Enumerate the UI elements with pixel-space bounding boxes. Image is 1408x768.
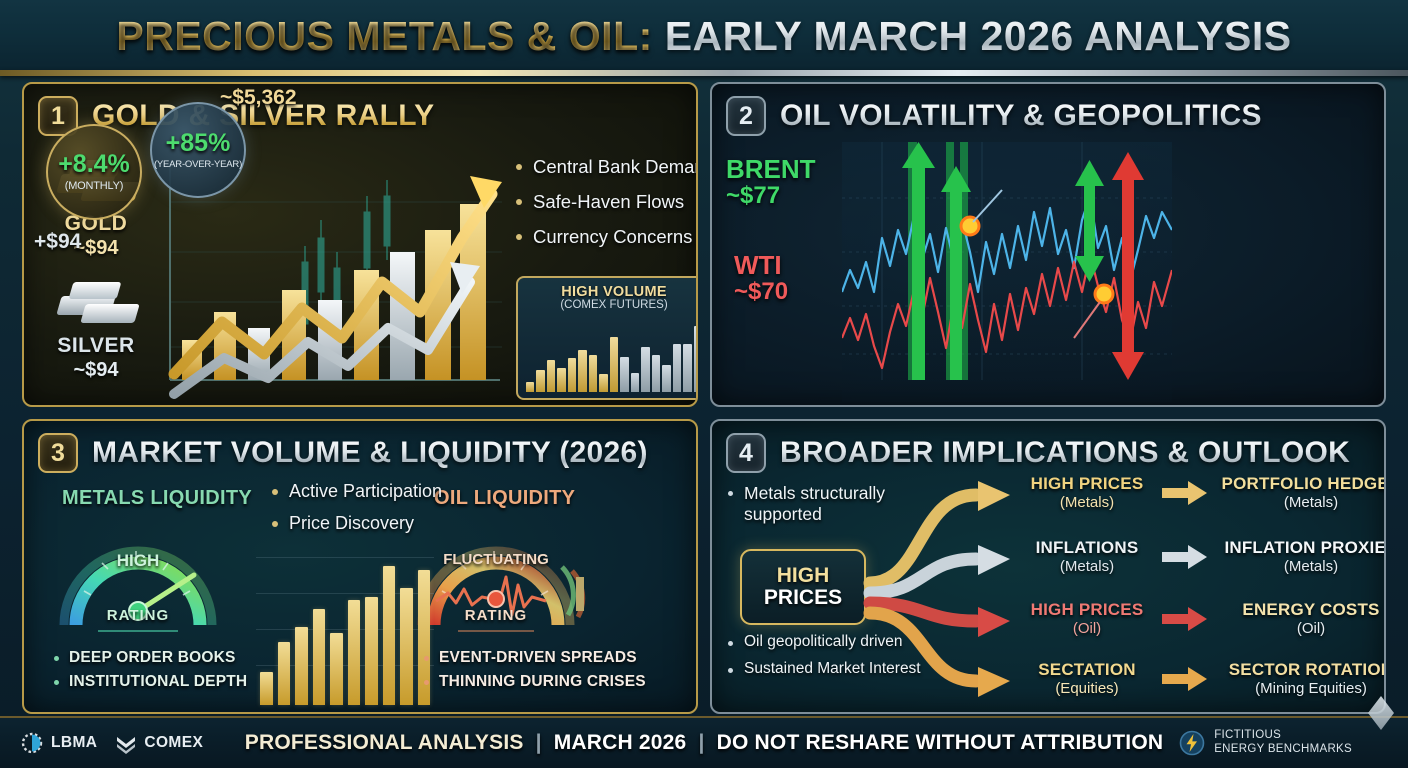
up-arrow-green-1 (902, 142, 935, 380)
flow-end-3: ENERGY COSTS (Oil) (1208, 601, 1386, 637)
panel3-header: 3 MARKET VOLUME & LIQUIDITY (2026) (38, 433, 648, 473)
lightning-bolt-icon (1179, 730, 1205, 756)
kpi-monthly-value: +8.4% (58, 152, 130, 177)
metals-liquidity-label: METALS LIQUIDITY (62, 487, 252, 510)
oil-liquidity-points: EVENT-DRIVEN SPREADS THINNING DURING CRI… (424, 649, 646, 697)
volume-box-subtitle: (COMEX FUTURES) (526, 299, 698, 311)
metals-liquidity-points: DEEP ORDER BOOKS INSTITUTIONAL DEPTH (54, 649, 247, 697)
panel3-bullets: Active Participation Price Discovery (272, 481, 442, 545)
metals-gauge-value: HIGH (48, 551, 228, 571)
volume-bars (526, 320, 698, 392)
flow-row-energy-costs: HIGH PRICES (Oil) ENERGY COSTS (Oil) (1012, 601, 1386, 637)
list-item: Oil geopolitically driven (728, 633, 943, 651)
down-arrow-red-1 (1112, 152, 1144, 380)
list-item: Safe-Haven Flows (516, 191, 696, 213)
flow-mid-4-sub: (Equities) (1012, 680, 1162, 697)
silver-price: ~$94 (40, 359, 152, 382)
flow-mid-3-title: HIGH PRICES (1012, 601, 1162, 620)
list-item: Active Participation (272, 481, 442, 502)
flow-mid-4: SECTATION (Equities) (1012, 661, 1162, 697)
list-item: Central Bank Demand (516, 156, 696, 178)
panel2-number-badge: 2 (726, 96, 766, 136)
panel2-title: OIL VOLATILITY & GEOPOLITICS (780, 99, 1262, 133)
flow-row-sector-rotation: SECTATION (Equities) SECTOR ROTATION (Mi… (1012, 661, 1386, 697)
footer-text-2: MARCH 2026 (554, 731, 687, 754)
panel4-header: 4 BROADER IMPLICATIONS & OUTLOOK (726, 433, 1350, 473)
panel2-header: 2 OIL VOLATILITY & GEOPOLITICS (726, 96, 1262, 136)
flow-mid-1: HIGH PRICES (Metals) (1012, 475, 1162, 511)
wti-price: ~$70 (734, 279, 788, 304)
flow-mid-2-title: INFLATIONS (1012, 539, 1162, 558)
arrow-right-red-icon (1162, 606, 1208, 632)
list-item: INSTITUTIONAL DEPTH (54, 673, 247, 691)
kpi-yoy-label: (YEAR-OVER-YEAR) (154, 159, 242, 170)
wti-name: WTI (734, 250, 782, 280)
silver-name: SILVER (40, 334, 152, 358)
panel4-bullets-bottom: Oil geopolitically driven Sustained Mark… (728, 633, 943, 687)
oil-volatility-chart (842, 142, 1172, 402)
list-item: THINNING DURING CRISES (424, 673, 646, 691)
flow-mid-4-title: SECTATION (1012, 661, 1162, 680)
up-arrow-green-3 (1075, 160, 1104, 282)
flow-mid-3-sub: (Oil) (1012, 620, 1162, 637)
flow-end-2-sub: (Metals) (1208, 558, 1386, 575)
market-volume-bars (260, 555, 430, 705)
kpi-yoy-value: +85% (166, 131, 231, 156)
flow-end-2-title: INFLATION PROXIES (1208, 539, 1386, 558)
list-item: EVENT-DRIVEN SPREADS (424, 649, 646, 667)
flow-end-4-title: SECTOR ROTATION (1208, 661, 1386, 680)
silver-legend: SILVER ~$94 (40, 274, 152, 382)
footer-bar: LBMA COMEX PROFESSIONAL ANALYSIS | MARCH… (0, 716, 1408, 768)
flow-end-4: SECTOR ROTATION (Mining Equities) (1208, 661, 1386, 697)
kpi-monthly-label: (MONTHLY) (65, 180, 124, 192)
flow-mid-2-sub: (Metals) (1012, 558, 1162, 575)
panel-market-volume-liquidity: 3 MARKET VOLUME & LIQUIDITY (2026) METAL… (22, 419, 698, 714)
metals-gauge-rating: RATING (48, 607, 228, 624)
panel4-number-badge: 4 (726, 433, 766, 473)
event-marker-2 (1095, 285, 1113, 303)
market-volume-chart (256, 549, 434, 709)
list-item: Currency Concerns (516, 226, 696, 248)
flow-row-metals-hedges: HIGH PRICES (Metals) PORTFOLIO HEDGES (M… (1012, 475, 1386, 511)
comex-volume-chart: HIGH VOLUME (COMEX FUTURES) (516, 276, 698, 400)
panel4-title: BROADER IMPLICATIONS & OUTLOOK (780, 436, 1350, 470)
list-item: DEEP ORDER BOOKS (54, 649, 247, 667)
flow-end-1-sub: (Metals) (1208, 494, 1386, 511)
flow-end-1: PORTFOLIO HEDGES (Metals) (1208, 475, 1386, 511)
brand-line1: FICTITIOUS (1214, 729, 1352, 743)
title-divider (0, 70, 1408, 76)
arrow-right-silver-icon (1162, 544, 1208, 570)
panel-oil-volatility: 2 OIL VOLATILITY & GEOPOLITICS BRENT ~$7… (710, 82, 1386, 407)
silver-bars-icon (53, 274, 139, 330)
brand-text: FICTITIOUS ENERGY BENCHMARKS (1214, 729, 1352, 757)
metals-liquidity-gauge: HIGH RATING (48, 519, 228, 637)
panel3-title: MARKET VOLUME & LIQUIDITY (2026) (92, 436, 648, 470)
footer-brand: FICTITIOUS ENERGY BENCHMARKS (1179, 729, 1352, 757)
flow-end-3-sub: (Oil) (1208, 620, 1386, 637)
title-bar: PRECIOUS METALS & OIL: EARLY MARCH 2026 … (0, 0, 1408, 72)
infographic-root: PRECIOUS METALS & OIL: EARLY MARCH 2026 … (0, 0, 1408, 768)
oil-chart-svg (842, 142, 1172, 402)
panel-grid: 1 GOLD & SILVER RALLY GOLD ~$94 SILVER ~ (22, 82, 1386, 712)
brent-label: BRENT ~$77 (726, 156, 816, 208)
arrow-right-amber-icon (1162, 666, 1208, 692)
wti-label: WTI ~$70 (734, 252, 788, 304)
list-item: Sustained Market Interest (728, 660, 943, 678)
flow-end-1-title: PORTFOLIO HEDGES (1208, 475, 1386, 494)
flow-end-3-title: ENERGY COSTS (1208, 601, 1386, 620)
brent-name: BRENT (726, 154, 816, 184)
panel3-number-badge: 3 (38, 433, 78, 473)
list-item: Price Discovery (272, 513, 442, 534)
kpi-yoy: +85% (YEAR-OVER-YEAR) (150, 102, 246, 198)
footer-text-1: PROFESSIONAL ANALYSIS (245, 731, 524, 754)
oil-liquidity-label: OIL LIQUIDITY (434, 487, 575, 510)
panel-broader-implications: 4 BROADER IMPLICATIONS & OUTLOOK Metals … (710, 419, 1386, 714)
hub-line2: PRICES (764, 587, 842, 609)
gold-target-label: ~$5,362 (220, 86, 297, 110)
flow-end-2: INFLATION PROXIES (Metals) (1208, 539, 1386, 575)
hub-line1: HIGH (777, 565, 830, 587)
brent-price: ~$77 (726, 183, 816, 208)
volume-box-title: HIGH VOLUME (526, 284, 698, 300)
page-title-gold: PRECIOUS METALS & OIL: (116, 13, 652, 59)
arrow-right-gold-icon (1162, 480, 1208, 506)
panel1-bullets: Central Bank Demand Safe-Haven Flows Cur… (516, 156, 696, 261)
brand-line2: ENERGY BENCHMARKS (1214, 743, 1352, 757)
flow-mid-1-title: HIGH PRICES (1012, 475, 1162, 494)
panel-gold-silver-rally: 1 GOLD & SILVER RALLY GOLD ~$94 SILVER ~ (22, 82, 698, 407)
footer-sep-2: | (693, 731, 711, 754)
page-title-silver: EARLY MARCH 2026 ANALYSIS (665, 13, 1292, 59)
kpi-monthly: +8.4% (MONTHLY) (46, 124, 142, 220)
high-prices-hub: HIGH PRICES (740, 549, 866, 625)
silver-delta-label: +$94 (34, 230, 81, 254)
footer-text-3: DO NOT RESHARE WITHOUT ATTRIBUTION (717, 731, 1164, 754)
flow-mid-1-sub: (Metals) (1012, 494, 1162, 511)
flow-end-4-sub: (Mining Equities) (1208, 680, 1386, 697)
footer-sep-1: | (530, 731, 548, 754)
flow-mid-3: HIGH PRICES (Oil) (1012, 601, 1162, 637)
flow-row-inflation: INFLATIONS (Metals) INFLATION PROXIES (M… (1012, 539, 1386, 575)
flow-mid-2: INFLATIONS (Metals) (1012, 539, 1162, 575)
page-title: PRECIOUS METALS & OIL: EARLY MARCH 2026 … (116, 13, 1291, 60)
